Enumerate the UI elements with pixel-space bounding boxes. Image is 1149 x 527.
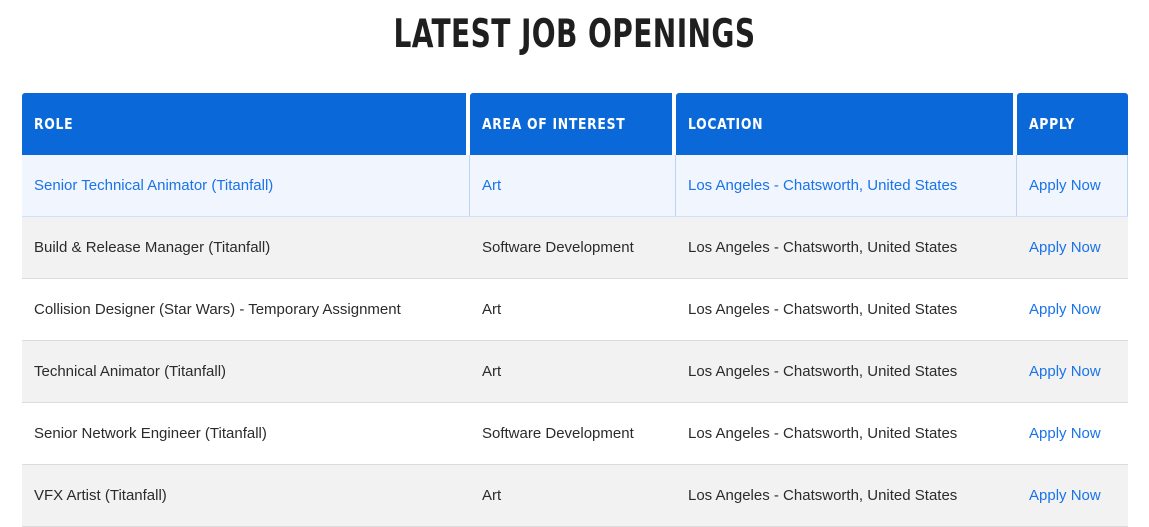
table-row[interactable]: Senior Network Engineer (Titanfall)Softw… bbox=[22, 403, 1128, 465]
job-location-cell: Los Angeles - Chatsworth, United States bbox=[676, 155, 1017, 217]
column-header-role[interactable]: Role bbox=[22, 93, 470, 155]
column-header-location[interactable]: Location bbox=[676, 93, 1017, 155]
apply-now-link[interactable]: Apply Now bbox=[1029, 177, 1101, 194]
job-area-cell: Art bbox=[470, 155, 676, 217]
job-role-cell[interactable]: Build & Release Manager (Titanfall) bbox=[22, 217, 470, 279]
job-role-link[interactable]: Collision Designer (Star Wars) - Tempora… bbox=[34, 301, 401, 318]
column-header-role-label: Role bbox=[34, 115, 73, 133]
job-role-link[interactable]: Senior Network Engineer (Titanfall) bbox=[34, 425, 267, 442]
job-area-cell: Software Development bbox=[470, 403, 676, 465]
job-openings-table: Role Area of Interest Location Apply Sen… bbox=[22, 93, 1128, 527]
apply-now-link[interactable]: Apply Now bbox=[1029, 487, 1101, 504]
job-apply-cell[interactable]: Apply Now bbox=[1017, 279, 1128, 341]
column-header-apply-label: Apply bbox=[1029, 115, 1075, 133]
job-role-cell[interactable]: VFX Artist (Titanfall) bbox=[22, 465, 470, 527]
page-title: Latest Job Openings bbox=[115, 0, 1034, 59]
job-apply-cell[interactable]: Apply Now bbox=[1017, 403, 1128, 465]
apply-now-link[interactable]: Apply Now bbox=[1029, 425, 1101, 442]
table-row[interactable]: Collision Designer (Star Wars) - Tempora… bbox=[22, 279, 1128, 341]
apply-now-link[interactable]: Apply Now bbox=[1029, 363, 1101, 380]
table-header-row: Role Area of Interest Location Apply bbox=[22, 93, 1128, 155]
column-header-area-of-interest[interactable]: Area of Interest bbox=[470, 93, 676, 155]
job-location-cell: Los Angeles - Chatsworth, United States bbox=[676, 465, 1017, 527]
job-role-link[interactable]: Technical Animator (Titanfall) bbox=[34, 363, 226, 380]
job-role-cell[interactable]: Technical Animator (Titanfall) bbox=[22, 341, 470, 403]
table-row[interactable]: Technical Animator (Titanfall)ArtLos Ang… bbox=[22, 341, 1128, 403]
apply-now-link[interactable]: Apply Now bbox=[1029, 301, 1101, 318]
job-area-cell: Art bbox=[470, 279, 676, 341]
job-apply-cell[interactable]: Apply Now bbox=[1017, 155, 1128, 217]
job-location-cell: Los Angeles - Chatsworth, United States bbox=[676, 279, 1017, 341]
table-body: Senior Technical Animator (Titanfall)Art… bbox=[22, 155, 1128, 527]
column-header-area-of-interest-label: Area of Interest bbox=[482, 115, 625, 133]
job-area-cell: Art bbox=[470, 341, 676, 403]
job-apply-cell[interactable]: Apply Now bbox=[1017, 217, 1128, 279]
job-location-cell: Los Angeles - Chatsworth, United States bbox=[676, 341, 1017, 403]
table-row[interactable]: Senior Technical Animator (Titanfall)Art… bbox=[22, 155, 1128, 217]
column-header-apply[interactable]: Apply bbox=[1017, 93, 1128, 155]
job-openings-table-wrapper: Role Area of Interest Location Apply Sen… bbox=[22, 93, 1128, 527]
job-area-cell: Software Development bbox=[470, 217, 676, 279]
apply-now-link[interactable]: Apply Now bbox=[1029, 239, 1101, 256]
job-openings-page: Latest Job Openings Role Area of Interes… bbox=[0, 0, 1149, 516]
job-apply-cell[interactable]: Apply Now bbox=[1017, 465, 1128, 527]
column-header-location-label: Location bbox=[688, 115, 763, 133]
job-apply-cell[interactable]: Apply Now bbox=[1017, 341, 1128, 403]
job-role-link[interactable]: Build & Release Manager (Titanfall) bbox=[34, 239, 270, 256]
job-location-cell: Los Angeles - Chatsworth, United States bbox=[676, 403, 1017, 465]
job-role-cell[interactable]: Senior Technical Animator (Titanfall) bbox=[22, 155, 470, 217]
job-area-cell: Art bbox=[470, 465, 676, 527]
table-header: Role Area of Interest Location Apply bbox=[22, 93, 1128, 155]
job-role-link[interactable]: VFX Artist (Titanfall) bbox=[34, 487, 167, 504]
job-role-link[interactable]: Senior Technical Animator (Titanfall) bbox=[34, 177, 273, 194]
table-row[interactable]: VFX Artist (Titanfall)ArtLos Angeles - C… bbox=[22, 465, 1128, 527]
job-location-cell: Los Angeles - Chatsworth, United States bbox=[676, 217, 1017, 279]
job-role-cell[interactable]: Senior Network Engineer (Titanfall) bbox=[22, 403, 470, 465]
table-row[interactable]: Build & Release Manager (Titanfall)Softw… bbox=[22, 217, 1128, 279]
job-role-cell[interactable]: Collision Designer (Star Wars) - Tempora… bbox=[22, 279, 470, 341]
